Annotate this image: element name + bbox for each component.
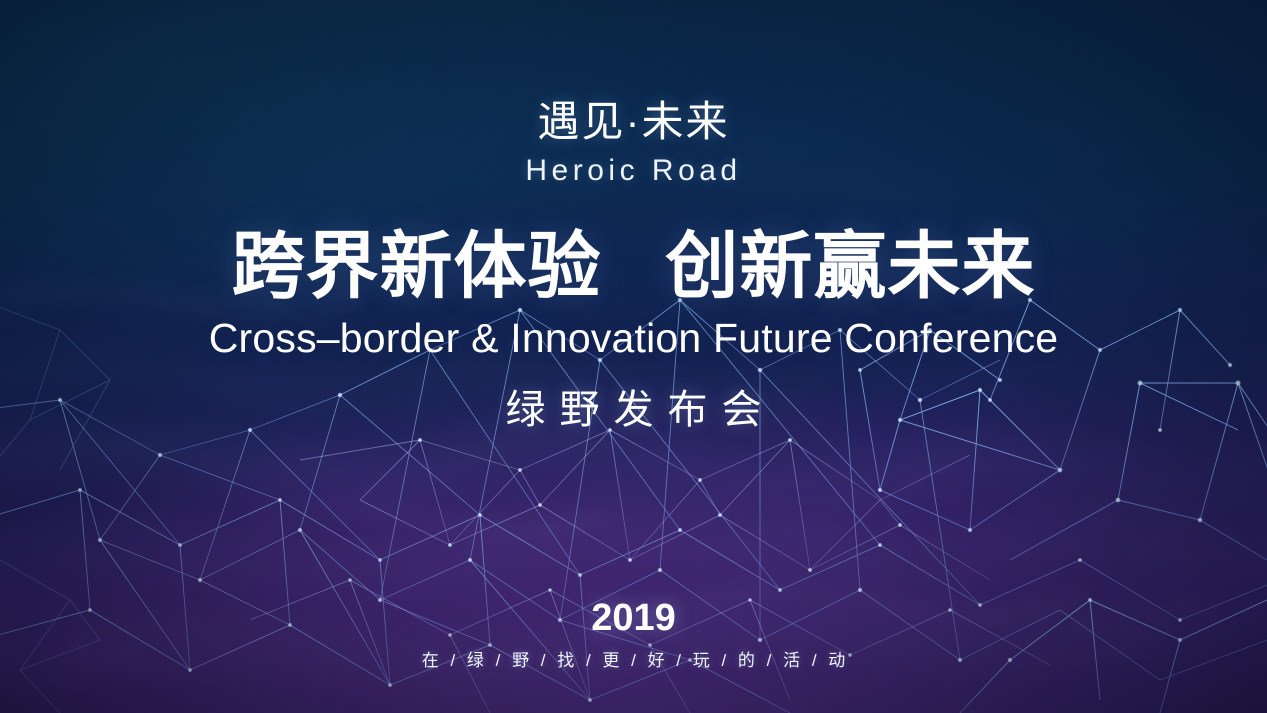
brand-name-chinese: 遇见·未来 bbox=[525, 101, 741, 143]
event-name-chinese: 绿野发布会 bbox=[492, 390, 776, 430]
conference-poster: 遇见·未来 Heroic Road 跨界新体验 创新赢未来 Cross–bord… bbox=[0, 0, 1267, 713]
brand-lockup: 遇见·未来 Heroic Road bbox=[525, 101, 741, 186]
poster-content: 遇见·未来 Heroic Road 跨界新体验 创新赢未来 Cross–bord… bbox=[0, 0, 1267, 713]
event-year: 2019 bbox=[591, 599, 676, 637]
headline-chinese: 跨界新体验 创新赢未来 bbox=[232, 229, 1036, 306]
brand-name-english: Heroic Road bbox=[525, 156, 741, 186]
headline-english: Cross–border & Innovation Future Confere… bbox=[209, 318, 1059, 359]
tagline: 在 / 绿 / 野 / 找 / 更 / 好 / 玩 / 的 / 活 / 动 bbox=[418, 652, 849, 669]
footer-block: 2019 在 / 绿 / 野 / 找 / 更 / 好 / 玩 / 的 / 活 /… bbox=[0, 599, 1267, 669]
